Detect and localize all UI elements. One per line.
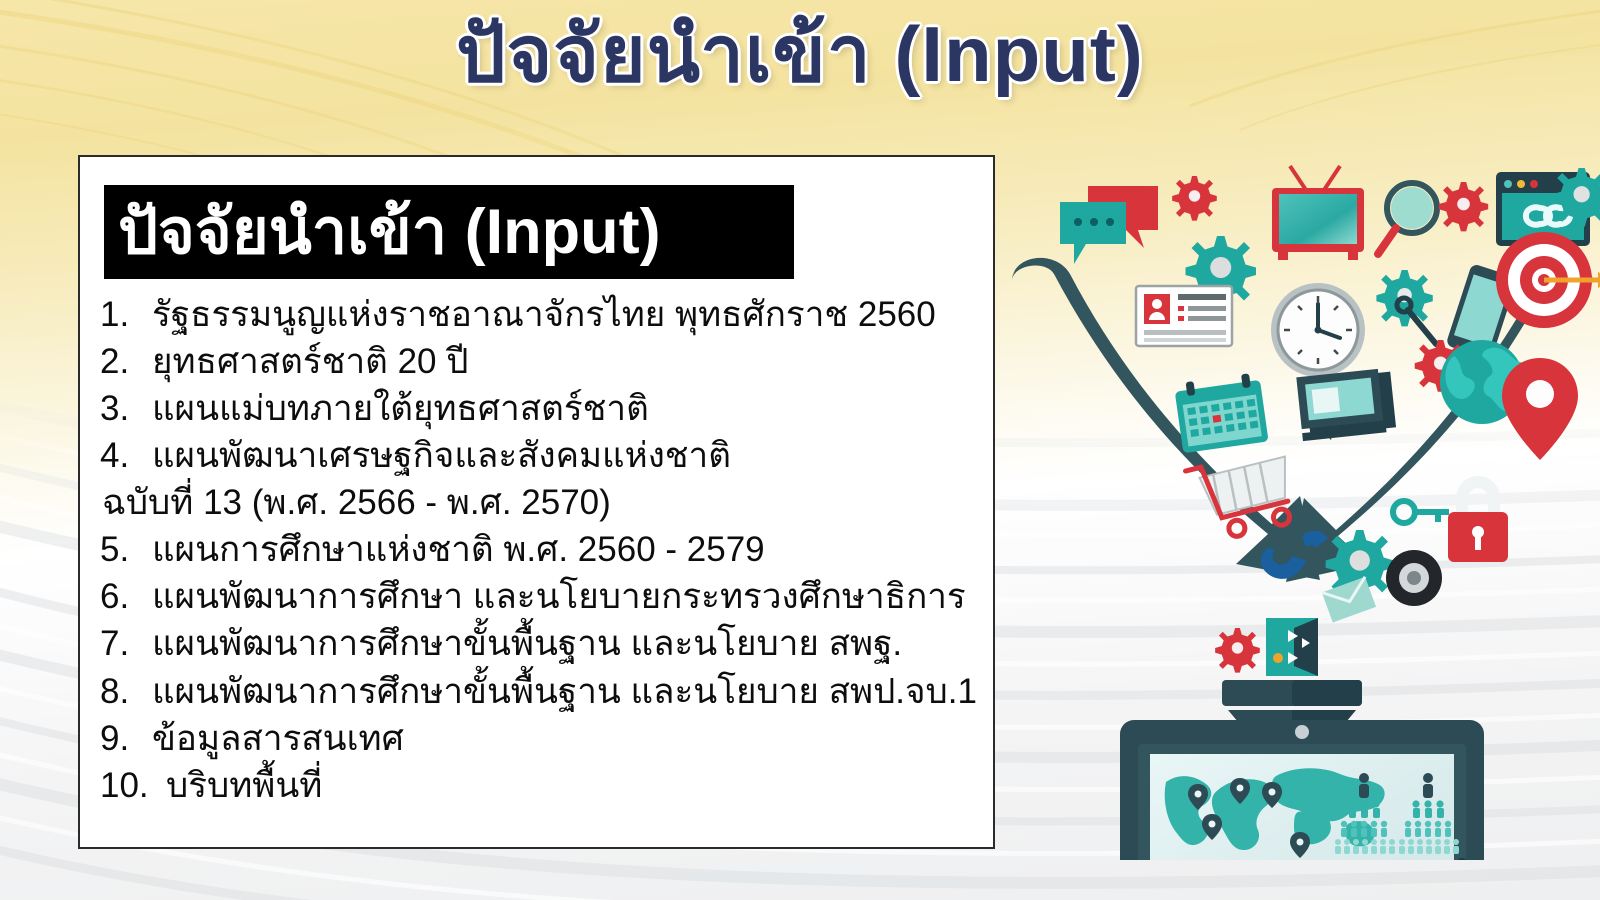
list-item-text: ยุทธศาสตร์ชาติ 20 ปี [152,338,468,385]
list-item: 10. บริบทพื้นที่ [100,762,987,809]
list-item-number: 1. [100,291,152,338]
card-header-bar: ปัจจัยนำเข้า (Input) [104,185,794,279]
list-item-number: 7. [100,620,152,667]
list-item: 8. แผนพัฒนาการศึกษาขั้นพื้นฐาน และนโยบาย… [100,668,987,715]
list-item-continuation: ฉบับที่ 13 (พ.ศ. 2566 - พ.ศ. 2570) [100,479,987,526]
gear-icon [1439,182,1488,231]
list-item-number: 5. [100,526,152,573]
wrench-gear-icon [1376,270,1436,344]
list-item: 6. แผนพัฒนาการศึกษา และนโยบายกระทรวงศึกษ… [100,573,987,620]
presentation-icon [1266,618,1318,676]
list-item-number: 9. [100,715,152,762]
list-item-text: แผนพัฒนาการศึกษาขั้นพื้นฐาน และนโยบาย สพ… [152,620,902,667]
list-item: 9. ข้อมูลสารสนเทศ [100,715,987,762]
list-item: 7. แผนพัฒนาการศึกษาขั้นพื้นฐาน และนโยบาย… [100,620,987,667]
list-item-number: 2. [100,338,152,385]
gear-icon [1172,176,1217,221]
list-item-text: ฉบับที่ 13 (พ.ศ. 2566 - พ.ศ. 2570) [100,479,611,526]
gear-icon [1215,628,1260,673]
target-icon [1496,232,1600,328]
list-item-text: แผนพัฒนาการศึกษาขั้นพื้นฐาน และนโยบาย สพ… [152,668,977,715]
clock-icon [1271,283,1365,377]
list-item-text: แผนพัฒนาเศรษฐกิจและสังคมแห่งชาติ [152,432,731,479]
card-header-label: ปัจจัยนำเข้า (Input) [104,201,661,264]
location-pin-icon [1502,358,1578,460]
tire-icon [1386,550,1442,606]
id-card-icon [1136,286,1232,346]
list-item: 2. ยุทธศาสตร์ชาติ 20 ปี [100,338,987,385]
list-item-text: แผนพัฒนาการศึกษา และนโยบายกระทรวงศึกษาธิ… [152,573,966,620]
list-item-text: แผนแม่บทภายใต้ยุทธศาสตร์ชาติ [152,385,649,432]
gear-icon [1552,168,1600,227]
monitor-icon [1296,368,1396,443]
lock-icon [1448,476,1508,562]
list-item-text: แผนการศึกษาแห่งชาติ พ.ศ. 2560 - 2579 [152,526,765,573]
television-icon [1272,166,1364,260]
list-item-text: รัฐธรรมนูญแห่งราชอาณาจักรไทย พุทธศักราช … [152,291,936,338]
chat-bubbles-icon [1060,186,1158,264]
list-item-number: 8. [100,668,152,715]
gear-icon [1451,272,1498,319]
calendar-icon [1174,372,1269,453]
magnifier-icon [1378,183,1437,254]
list-item-text: บริบทพื้นที่ [166,762,322,809]
list-item: 3. แผนแม่บทภายใต้ยุทธศาสตร์ชาติ [100,385,987,432]
list-item-text: ข้อมูลสารสนเทศ [152,715,404,762]
input-content-card: ปัจจัยนำเข้า (Input) 1. รัฐธรรมนูญแห่งรา… [78,155,995,849]
key-icon [1393,501,1449,523]
list-item: 5. แผนการศึกษาแห่งชาติ พ.ศ. 2560 - 2579 [100,526,987,573]
list-item-number: 3. [100,385,152,432]
list-item-number: 4. [100,432,152,479]
list-item-number: 10. [100,762,166,809]
list-item: 1. รัฐธรรมนูญแห่งราชอาณาจักรไทย พุทธศักร… [100,291,987,338]
funnel-infographic: DecNovSep [1000,160,1600,860]
page-title: ปัจจัยนำเข้า (Input) [0,14,1600,96]
laptop-dashboard: DecNovSep [1084,720,1520,860]
list-item: 4. แผนพัฒนาเศรษฐกิจและสังคมแห่งชาติ [100,432,987,479]
input-factor-list: 1. รัฐธรรมนูญแห่งราชอาณาจักรไทย พุทธศักร… [100,291,987,809]
list-item-number: 6. [100,573,152,620]
